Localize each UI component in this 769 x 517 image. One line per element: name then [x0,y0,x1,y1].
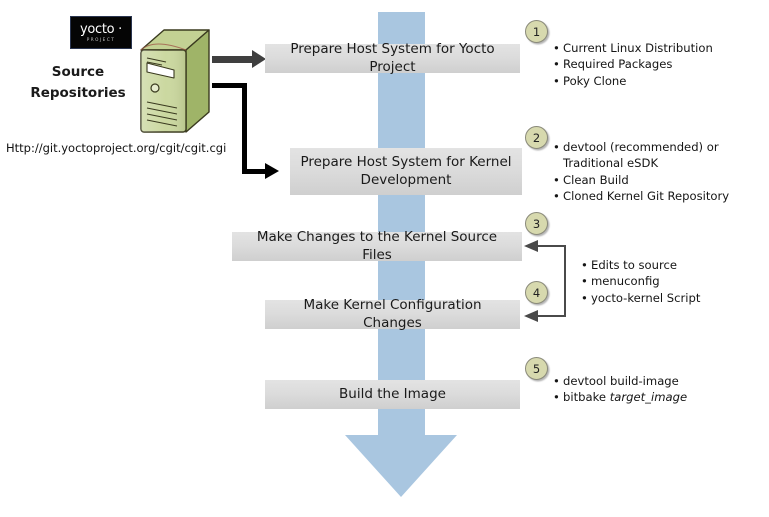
process-box-step2-label: Prepare Host System for Kernel Developme… [298,154,514,190]
step5-note: devtool build-image [563,373,752,389]
step2-note: Cloned Kernel Git Repository [563,188,762,204]
feedback-bracket-top-segment [536,245,565,247]
process-box-step5-label: Build the Image [339,386,446,404]
feedback-bracket-bottom-segment [536,315,565,317]
step-badge-1: 1 [525,20,548,43]
step1-note: Required Packages [563,56,762,72]
process-box-step5[interactable]: Build the Image [265,380,520,409]
connector-source-to-step2-arrowhead [265,163,279,179]
source-repositories-label: Source Repositories [20,62,136,104]
step2-note: devtool (recommended) or Traditional eSD… [563,139,762,172]
feedback-arrowhead-step4 [524,310,538,322]
step5-notes: devtool build-image bitbake target_image [552,373,752,406]
step5-note-bitbake: bitbake target_image [563,389,752,405]
process-box-step4[interactable]: Make Kernel Configuration Changes [265,300,520,329]
connector-source-to-step1-line [212,56,254,63]
step3-step4-shared-notes: Edits to source menuconfig yocto-kernel … [580,257,760,306]
connector-source-to-step1-arrowhead [252,50,266,68]
process-box-step3[interactable]: Make Changes to the Kernel Source Files [232,232,522,261]
feedback-bracket-vertical [564,245,566,317]
yocto-logo-word: yocto · [80,23,122,36]
yocto-logo-subtitle: PROJECT [87,38,116,42]
shared-note: Edits to source [591,257,760,273]
shared-note: yocto-kernel Script [591,290,760,306]
step-badge-4: 4 [525,281,548,304]
source-repositories-label-line1: Source [20,62,136,83]
connector-source-to-step2-segment-v [242,83,247,170]
step-badge-2: 2 [525,126,548,149]
process-box-step4-label: Make Kernel Configuration Changes [273,297,512,333]
step1-note: Current Linux Distribution [563,40,762,56]
source-repositories-url: Http://git.yoctoproject.org/cgit/cgit.cg… [6,141,226,155]
step2-note: Clean Build [563,172,762,188]
diagram-canvas: yocto · PROJECT Source Repositories Http… [0,0,769,517]
step1-note: Poky Clone [563,73,762,89]
process-box-step1-label: Prepare Host System for Yocto Project [273,41,512,77]
main-flow-arrow-head [345,435,457,497]
feedback-arrowhead-step3 [524,240,538,252]
step5-bitbake-arg: target_image [610,390,687,404]
process-box-step2[interactable]: Prepare Host System for Kernel Developme… [290,148,522,195]
process-box-step3-label: Make Changes to the Kernel Source Files [240,229,514,265]
step2-notes: devtool (recommended) or Traditional eSD… [552,139,762,205]
process-box-step1[interactable]: Prepare Host System for Yocto Project [265,44,520,73]
shared-note: menuconfig [591,273,760,289]
source-repositories-label-line2: Repositories [20,83,136,104]
step-badge-3: 3 [525,212,548,235]
server-tower-icon [136,26,214,138]
step1-notes: Current Linux Distribution Required Pack… [552,40,762,89]
yocto-project-logo: yocto · PROJECT [70,16,132,49]
step5-bitbake-prefix: bitbake [563,390,610,404]
step-badge-5: 5 [525,357,548,380]
